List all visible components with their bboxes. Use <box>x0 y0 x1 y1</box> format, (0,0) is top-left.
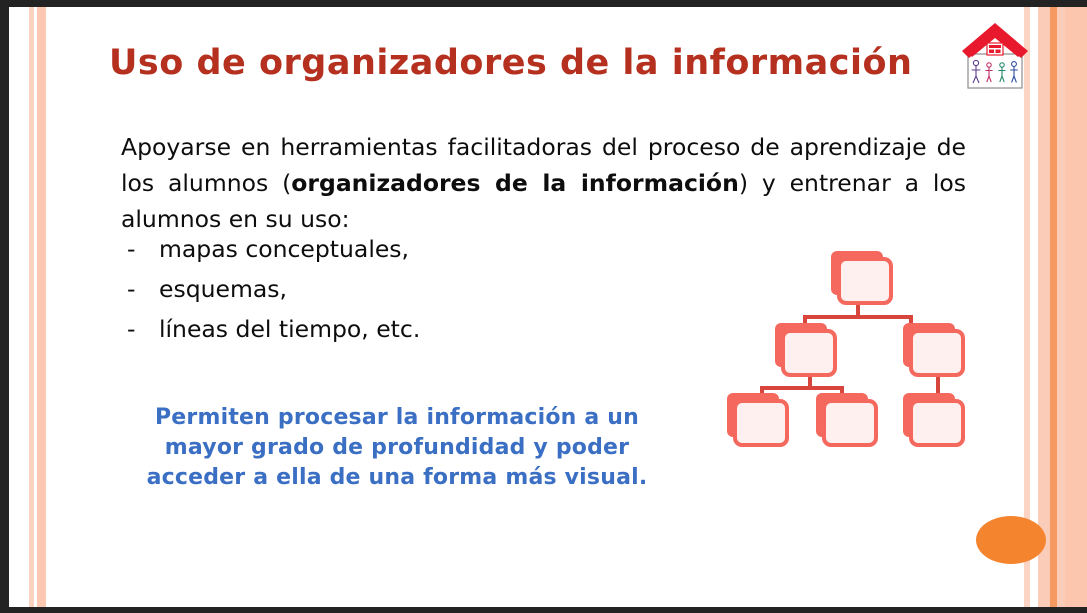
org-node-root <box>831 251 891 303</box>
list-item-label: mapas conceptuales, <box>159 235 409 263</box>
left-decor-stripe-2 <box>37 7 46 607</box>
list-item: - mapas conceptuales, <box>127 235 687 263</box>
org-node-level2-right <box>903 323 963 375</box>
org-node-level3-3 <box>903 393 963 445</box>
right-decor-stripe-3 <box>1050 7 1057 607</box>
right-decor-stripe-2 <box>1038 7 1050 607</box>
paragraph-bold-term: organizadores de la información <box>291 169 739 197</box>
org-node-level3-2 <box>816 393 876 445</box>
list-item-label: líneas del tiempo, etc. <box>159 315 420 343</box>
body-paragraph: Apoyarse en herramientas facilitadoras d… <box>121 129 966 237</box>
page-title: Uso de organizadores de la información <box>109 43 929 83</box>
org-node-level3-1 <box>727 393 787 445</box>
org-node-level2-left <box>775 323 835 375</box>
right-decor-stripe-4 <box>1057 7 1065 607</box>
school-house-logo <box>956 21 1034 97</box>
bullet-dash-marker: - <box>127 315 159 343</box>
orange-ellipse-decoration <box>976 516 1046 564</box>
list-item-label: esquemas, <box>159 275 287 303</box>
bullet-list: - mapas conceptuales, - esquemas, - líne… <box>127 235 687 355</box>
list-item: - esquemas, <box>127 275 687 303</box>
hierarchy-org-chart-icon <box>712 245 1004 455</box>
blue-emphasis-note: Permiten procesar la información a un ma… <box>127 403 667 493</box>
list-item: - líneas del tiempo, etc. <box>127 315 687 343</box>
slide-canvas: Uso de organizadores de la información <box>9 7 1087 607</box>
slide-frame: Uso de organizadores de la información <box>0 0 1087 613</box>
school-house-logo-icon <box>956 21 1034 97</box>
right-decor-stripe-5 <box>1065 7 1087 607</box>
bullet-dash-marker: - <box>127 275 159 303</box>
left-decor-stripe-1 <box>29 7 34 607</box>
hierarchy-org-chart <box>712 245 1004 455</box>
bullet-dash-marker: - <box>127 235 159 263</box>
